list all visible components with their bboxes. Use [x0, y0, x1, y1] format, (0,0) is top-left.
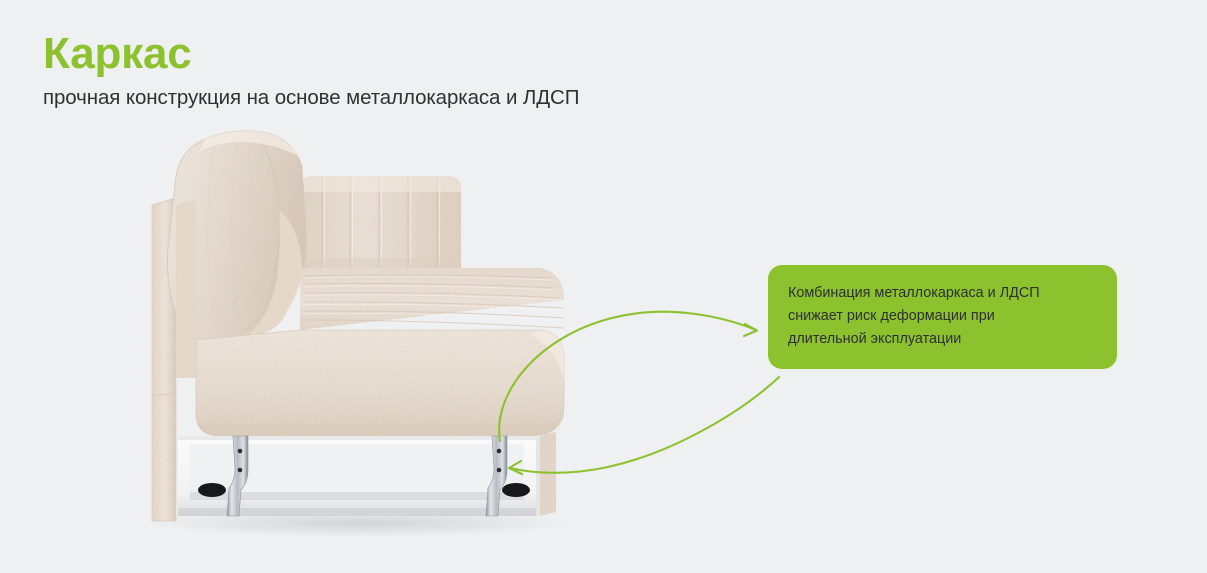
callout-text: Комбинация металлокаркаса и ЛДСП снижает…	[788, 282, 1097, 351]
callout-box: Комбинация металлокаркаса и ЛДСП снижает…	[768, 265, 1117, 369]
page-title: Каркас	[43, 28, 943, 80]
promo-slide: Каркас прочная конструкция на основе мет…	[0, 0, 1207, 573]
arrow-callout-to-leg	[509, 377, 779, 474]
header-block: Каркас прочная конструкция на основе мет…	[43, 28, 943, 111]
page-subtitle: прочная конструкция на основе металлокар…	[43, 85, 943, 111]
